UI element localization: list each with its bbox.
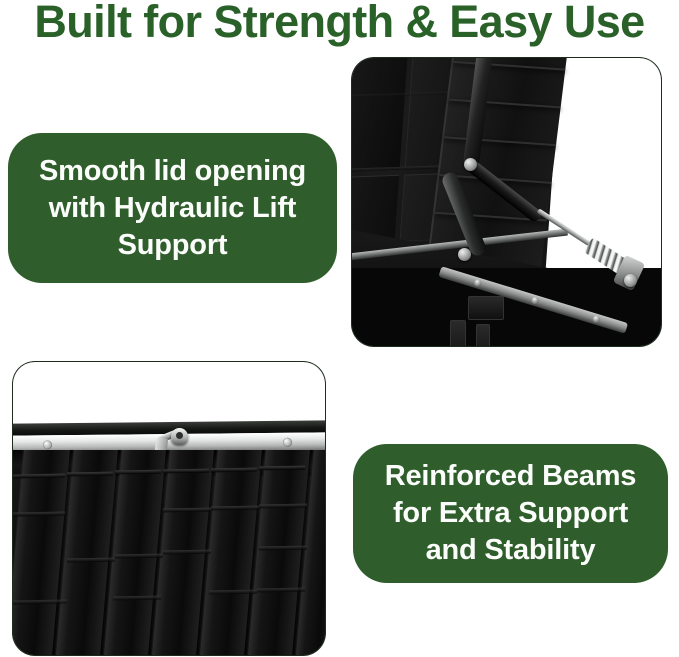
callout-smooth-lid-opening-text: Smooth lid opening with Hydraulic Lift S… xyxy=(8,153,337,264)
callout-smooth-lid-opening: Smooth lid opening with Hydraulic Lift S… xyxy=(8,133,337,283)
lid-latch-tab-2 xyxy=(476,324,490,346)
lid-latch-tab xyxy=(450,320,466,346)
pivot-joint-strut-end xyxy=(624,274,637,287)
callout-reinforced-beams: Reinforced Beams for Extra Support and S… xyxy=(353,444,668,583)
box-interior-wall xyxy=(13,450,325,655)
rail-screw xyxy=(43,440,52,449)
lid-latch-clip xyxy=(468,296,504,320)
photo-reinforced-beams xyxy=(13,362,325,655)
lock-hasp-loop xyxy=(171,428,188,445)
reinforced-beams-scene xyxy=(13,362,325,655)
callout-reinforced-beams-text: Reinforced Beams for Extra Support and S… xyxy=(353,458,668,569)
photo-hydraulic-lift xyxy=(352,58,661,346)
page-title: Built for Strength & Easy Use xyxy=(0,0,679,48)
rail-screw xyxy=(283,438,292,447)
pivot-joint-upper xyxy=(464,158,477,171)
hydraulic-lift-scene xyxy=(352,58,661,346)
pivot-joint-lower xyxy=(458,248,471,261)
